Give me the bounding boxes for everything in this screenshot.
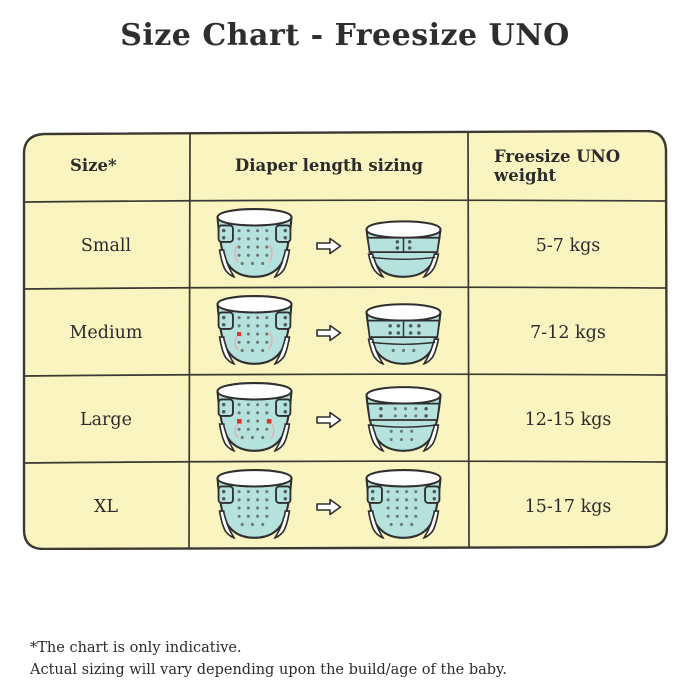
table-row: XL: [22, 463, 190, 550]
size-label: Medium: [70, 323, 143, 343]
diaper-front-icon: [203, 381, 306, 459]
footnote-line-1: *The chart is only indicative.: [30, 638, 650, 660]
diaper-illustration-cell: [190, 202, 468, 289]
diaper-illustration-cell: [190, 289, 468, 376]
snap-highlight: [237, 418, 242, 423]
diaper-illustration-cell: [190, 376, 468, 463]
size-chart-table: Size* Diaper length sizing Freesize UNO …: [22, 130, 668, 550]
diaper-front-icon: [352, 468, 455, 546]
size-label: Large: [80, 410, 132, 430]
diaper-folded-icon: [352, 207, 455, 285]
column-header-size-label: Size*: [70, 156, 117, 175]
diaper-folded-icon: [352, 294, 455, 372]
column-header-diaper-length-sizing-label: Diaper length sizing: [235, 156, 423, 175]
column-header-freesize-uno-weight: Freesize UNO weight: [468, 130, 668, 202]
diaper-front-icon: [203, 207, 306, 285]
snap-highlight: [267, 418, 272, 423]
right-arrow-icon: [312, 411, 346, 429]
weight-cell: 15-17 kgs: [468, 463, 668, 550]
size-label: Small: [81, 236, 131, 256]
right-arrow-icon: [312, 498, 346, 516]
weight-label: 12-15 kgs: [525, 410, 612, 430]
weight-label: 7-12 kgs: [530, 323, 606, 343]
diaper-front-icon: [203, 294, 306, 372]
column-header-freesize-uno-weight-label: Freesize UNO weight: [494, 147, 660, 186]
weight-label: 5-7 kgs: [536, 236, 601, 256]
illus-pair: [190, 207, 468, 285]
weight-cell: 5-7 kgs: [468, 202, 668, 289]
right-arrow-icon: [312, 324, 346, 342]
page-title: Size Chart - Freesize UNO: [0, 18, 690, 53]
weight-cell: 7-12 kgs: [468, 289, 668, 376]
illus-pair: [190, 381, 468, 459]
diaper-front-icon: [203, 468, 306, 546]
column-header-size: Size*: [22, 130, 190, 202]
illus-pair: [190, 294, 468, 372]
footnote-line-2: Actual sizing will vary depending upon t…: [30, 660, 650, 682]
footnote: *The chart is only indicative. Actual si…: [30, 638, 650, 682]
right-arrow-icon: [312, 237, 346, 255]
diaper-folded-icon: [352, 381, 455, 459]
column-header-diaper-length-sizing: Diaper length sizing: [190, 130, 468, 202]
table-row: Small: [22, 202, 190, 289]
table-row: Large: [22, 376, 190, 463]
weight-label: 15-17 kgs: [525, 497, 612, 517]
diaper-illustration-cell: [190, 463, 468, 550]
size-label: XL: [94, 497, 118, 517]
illus-pair: [190, 468, 468, 546]
weight-cell: 12-15 kgs: [468, 376, 668, 463]
table-grid: Size* Diaper length sizing Freesize UNO …: [22, 130, 668, 550]
table-row: Medium: [22, 289, 190, 376]
snap-highlight: [237, 331, 241, 335]
